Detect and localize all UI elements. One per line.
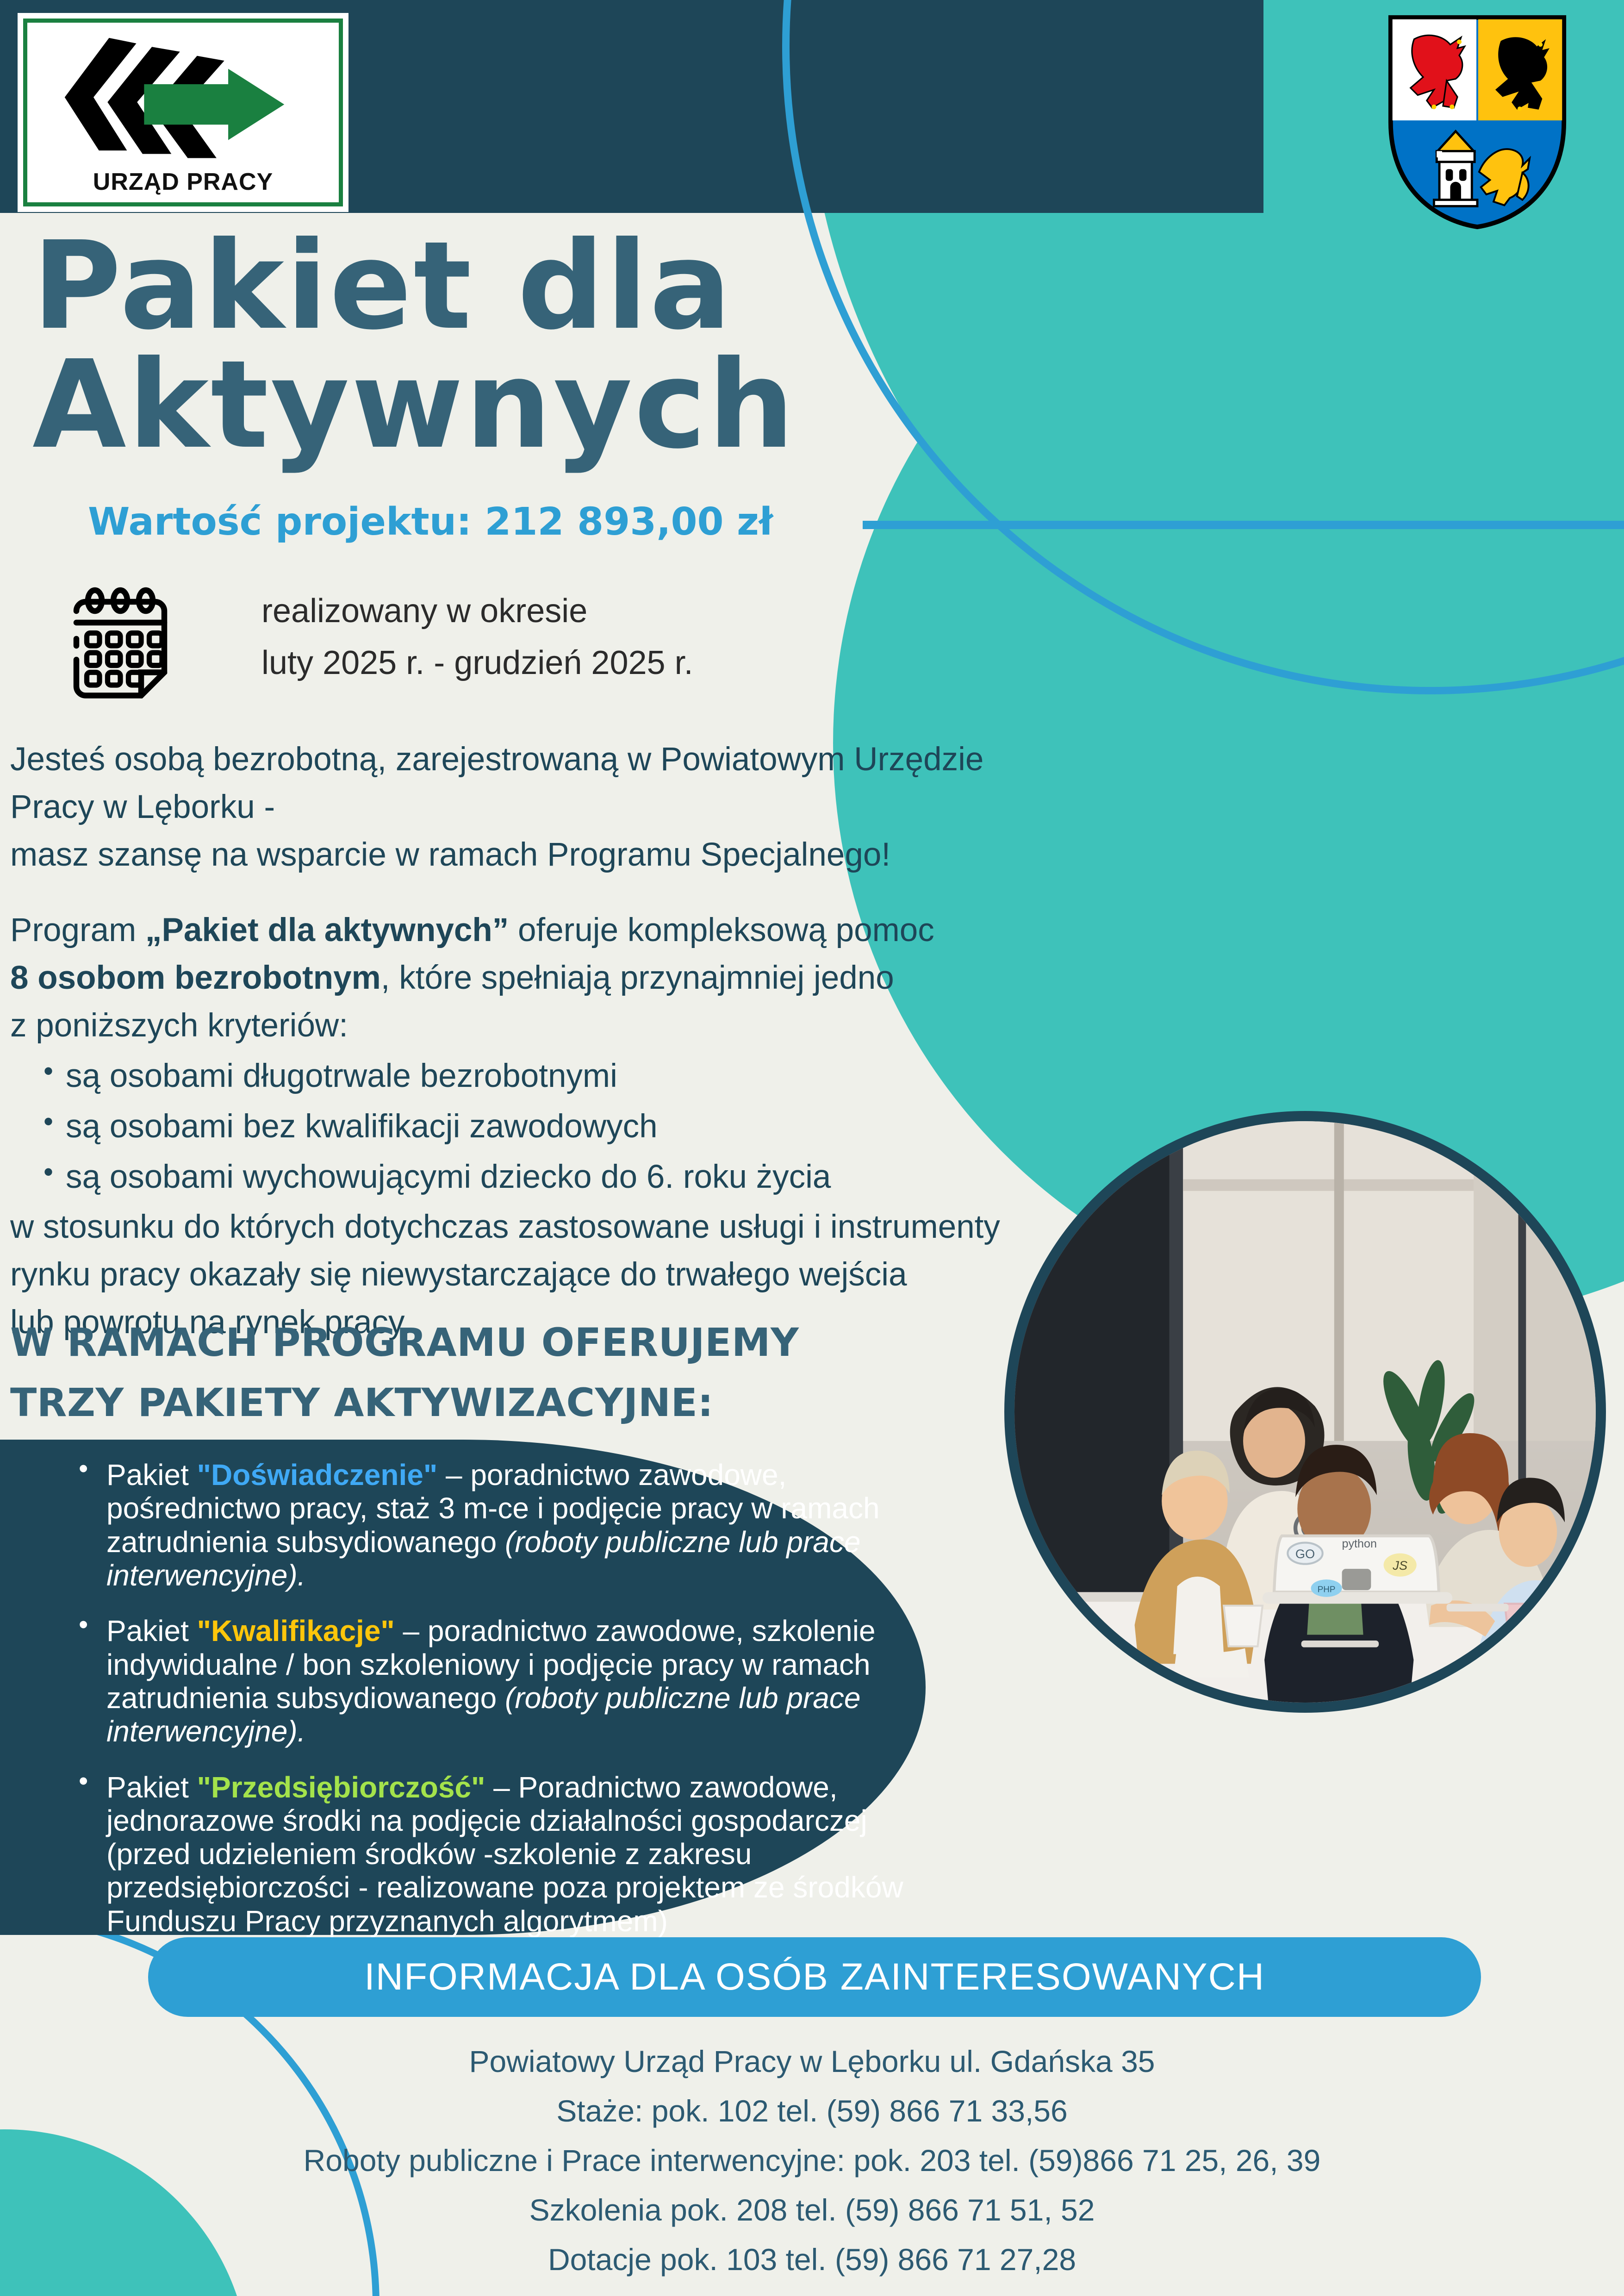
intro-text: Jesteś osobą bezrobotną, zarejestrowaną … (10, 736, 1065, 1347)
pkg2-name: "Przedsiębiorczość" (197, 1771, 485, 1804)
para2-mid: oferuje kompleksową pomoc (509, 912, 934, 948)
period-line-1: realizowany w okresie (261, 586, 693, 637)
svg-text:GO: GO (1295, 1547, 1315, 1561)
intro-line-1: Jesteś osobą bezrobotną, zarejestrowaną … (10, 736, 1065, 831)
project-period: realizowany w okresie luty 2025 r. - gru… (261, 586, 693, 689)
contact-details: Powiatowy Urząd Pracy w Lęborku ul. Gdań… (0, 2037, 1624, 2296)
urzad-pracy-logo: URZĄD PRACY (18, 13, 348, 212)
intro-para2-line2: 8 osobom bezrobotnym, które spełniają pr… (10, 955, 1065, 1002)
criteria-list: są osobami długotrwale bezrobotnymi są o… (10, 1053, 1065, 1201)
intro-tail-2: rynku pracy okazały się niewystarczające… (10, 1251, 1065, 1299)
team-around-laptop-photo: GO python JS PHP (1004, 1111, 1606, 1713)
list-item: są osobami długotrwale bezrobotnymi (66, 1053, 1065, 1100)
contact-line: Roboty publiczne i Prace interwencyjne: … (0, 2136, 1624, 2185)
info-banner-label: INFORMACJA DLA OSÓB ZAINTERESOWANYCH (364, 1955, 1265, 1999)
para2-bold-program: „Pakiet dla aktywnych” (145, 912, 509, 948)
pkg0-prefix: Pakiet (106, 1458, 197, 1491)
contact-line: Staże: pok. 102 tel. (59) 866 71 33,56 (0, 2086, 1624, 2136)
svg-text:JS: JS (1392, 1558, 1407, 1572)
section-heading: W RAMACH PROGRAMU OFERUJEMY TRZY PAKIETY… (10, 1312, 799, 1433)
intro-tail-1: w stosunku do których dotychczas zastoso… (10, 1204, 1065, 1251)
section-heading-line-1: W RAMACH PROGRAMU OFERUJEMY (10, 1312, 799, 1373)
logo-frame: URZĄD PRACY (23, 19, 343, 206)
svg-text:python: python (1342, 1537, 1377, 1550)
contact-line: Poradnictwo zawodowe: pok.3 ,207 tel. (5… (0, 2284, 1624, 2296)
intro-para2-line1: Program „Pakiet dla aktywnych” oferuje k… (10, 907, 1065, 955)
list-item: są osobami wychowującymi dziecko do 6. r… (66, 1154, 1065, 1201)
info-banner: INFORMACJA DLA OSÓB ZAINTERESOWANYCH (148, 1937, 1481, 2017)
logo-label: URZĄD PRACY (27, 168, 339, 196)
package-item-doswiadczenie: Pakiet "Doświadczenie" – poradnictwo zaw… (69, 1458, 940, 1592)
calendar-icon-glyph (62, 586, 178, 701)
para2-pre: Program (10, 912, 145, 948)
contact-line: Dotacje pok. 103 tel. (59) 866 71 27,28 (0, 2235, 1624, 2284)
page-title: Pakiet dla Aktywnych (32, 227, 1143, 465)
intro-line-2: masz szansę na wsparcie w ramach Program… (10, 831, 1065, 879)
intro-para2-line3: z poniższych kryteriów: (10, 1002, 1065, 1050)
contact-line: Szkolenia pok. 208 tel. (59) 866 71 51, … (0, 2185, 1624, 2235)
poster-root: URZĄD PRACY (0, 0, 1624, 2296)
svg-text:PHP: PHP (1318, 1584, 1336, 1594)
package-item-przedsiebiorczosc: Pakiet "Przedsiębiorczość" – Poradnictwo… (69, 1771, 940, 1938)
pkg1-prefix: Pakiet (106, 1614, 197, 1647)
pkg1-name: "Kwalifikacje" (197, 1614, 395, 1647)
para2-bold-people: 8 osobom bezrobotnym (10, 960, 381, 996)
list-item: są osobami bez kwalifikacji zawodowych (66, 1103, 1065, 1151)
coat-of-arms-icon (1387, 14, 1568, 231)
contact-line: Powiatowy Urząd Pracy w Lęborku ul. Gdań… (0, 2037, 1624, 2086)
blue-horizontal-line (863, 521, 1624, 529)
coat-of-arms (1387, 14, 1568, 231)
period-line-2: luty 2025 r. - grudzień 2025 r. (261, 637, 693, 689)
calendar-icon (62, 586, 178, 701)
title-line-2: Aktywnych (32, 346, 1143, 465)
para2-post: , które spełniają przynajmniej jedno (381, 960, 894, 996)
project-value: Wartość projektu: 212 893,00 zł (88, 500, 773, 544)
pkg0-name: "Doświadczenie" (197, 1458, 438, 1491)
photo-illustration: GO python JS PHP (1014, 1121, 1596, 1703)
packages-list: Pakiet "Doświadczenie" – poradnictwo zaw… (69, 1458, 940, 1960)
pkg2-prefix: Pakiet (106, 1771, 197, 1804)
package-item-kwalifikacje: Pakiet "Kwalifikacje" – poradnictwo zawo… (69, 1614, 940, 1748)
section-heading-line-2: TRZY PAKIETY AKTYWIZACYJNE: (10, 1373, 799, 1433)
